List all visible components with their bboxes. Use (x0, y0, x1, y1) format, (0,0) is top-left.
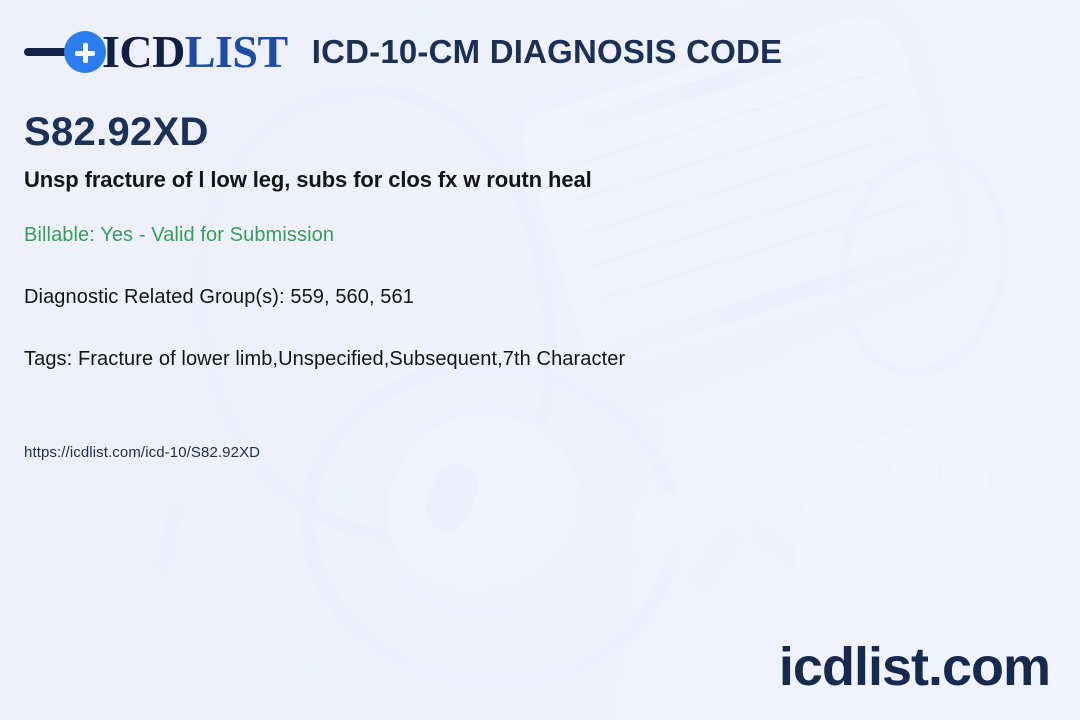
source-url-link[interactable]: https://icdlist.com/icd-10/S82.92XD (24, 444, 260, 461)
logo-text-list: LIST (185, 29, 288, 75)
diagnostic-related-groups: Diagnostic Related Group(s): 559, 560, 5… (24, 286, 414, 309)
page-title: ICD-10-CM DIAGNOSIS CODE (312, 33, 783, 71)
icdlist-logo[interactable]: ICD LIST (24, 24, 288, 80)
diagnosis-code: S82.92XD (24, 112, 209, 152)
page-header: ICD LIST ICD-10-CM DIAGNOSIS CODE (24, 24, 782, 80)
tags-list: Tags: Fracture of lower limb,Unspecified… (24, 348, 625, 371)
card-content: ICD LIST ICD-10-CM DIAGNOSIS CODE S82.92… (0, 0, 1080, 720)
site-brand-watermark: icdlist.com (779, 640, 1050, 694)
icd-code-card: ICD LIST ICD-10-CM DIAGNOSIS CODE S82.92… (0, 0, 1080, 720)
billable-status-badge: Billable: Yes - Valid for Submission (24, 224, 334, 247)
plus-icon (64, 31, 106, 73)
logo-text-icd: ICD (102, 29, 185, 75)
diagnosis-description: Unsp fracture of l low leg, subs for clo… (24, 166, 592, 194)
